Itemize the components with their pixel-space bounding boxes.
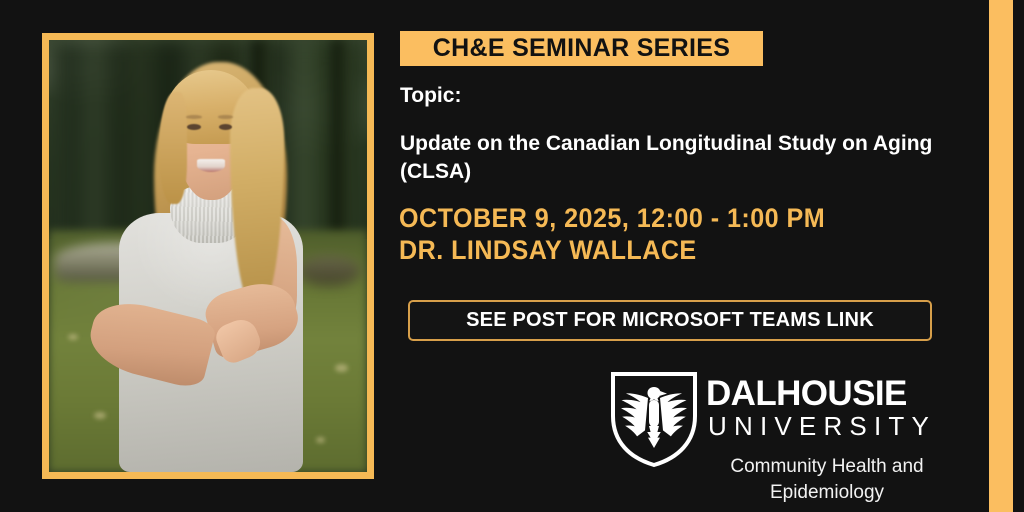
right-accent-bar: [989, 0, 1013, 512]
photo-person: [49, 40, 367, 472]
series-badge: CH&E SEMINAR SERIES: [400, 31, 763, 66]
event-speaker: DR. LINDSAY WALLACE: [399, 235, 697, 266]
wordmark-dalhousie: DALHOUSIE: [706, 376, 948, 411]
department-name: Community Health and Epidemiology: [706, 454, 948, 506]
topic-label: Topic:: [400, 84, 461, 108]
person-hair-left: [159, 92, 188, 204]
wordmark-university: UNIVERSITY: [706, 411, 948, 442]
person-eyebrow: [186, 115, 202, 119]
series-badge-label: CH&E SEMINAR SERIES: [433, 34, 730, 63]
dalhousie-shield-eagle-icon: [608, 370, 700, 468]
dalhousie-wordmark: DALHOUSIE UNIVERSITY: [706, 376, 948, 442]
topic-title: Update on the Canadian Longitudinal Stud…: [400, 130, 945, 187]
person-smile: [197, 159, 226, 172]
seminar-poster: CH&E SEMINAR SERIES Topic: Update on the…: [0, 0, 1024, 512]
teams-link-button[interactable]: SEE POST FOR MICROSOFT TEAMS LINK: [408, 300, 932, 341]
person-eyebrow: [218, 115, 234, 119]
speaker-photo: [42, 33, 374, 479]
event-datetime: OCTOBER 9, 2025, 12:00 - 1:00 PM: [399, 203, 825, 234]
photo-image: [49, 40, 367, 472]
dalhousie-logo: DALHOUSIE UNIVERSITY Community Health an…: [608, 370, 948, 505]
teams-link-button-label: SEE POST FOR MICROSOFT TEAMS LINK: [466, 309, 874, 332]
